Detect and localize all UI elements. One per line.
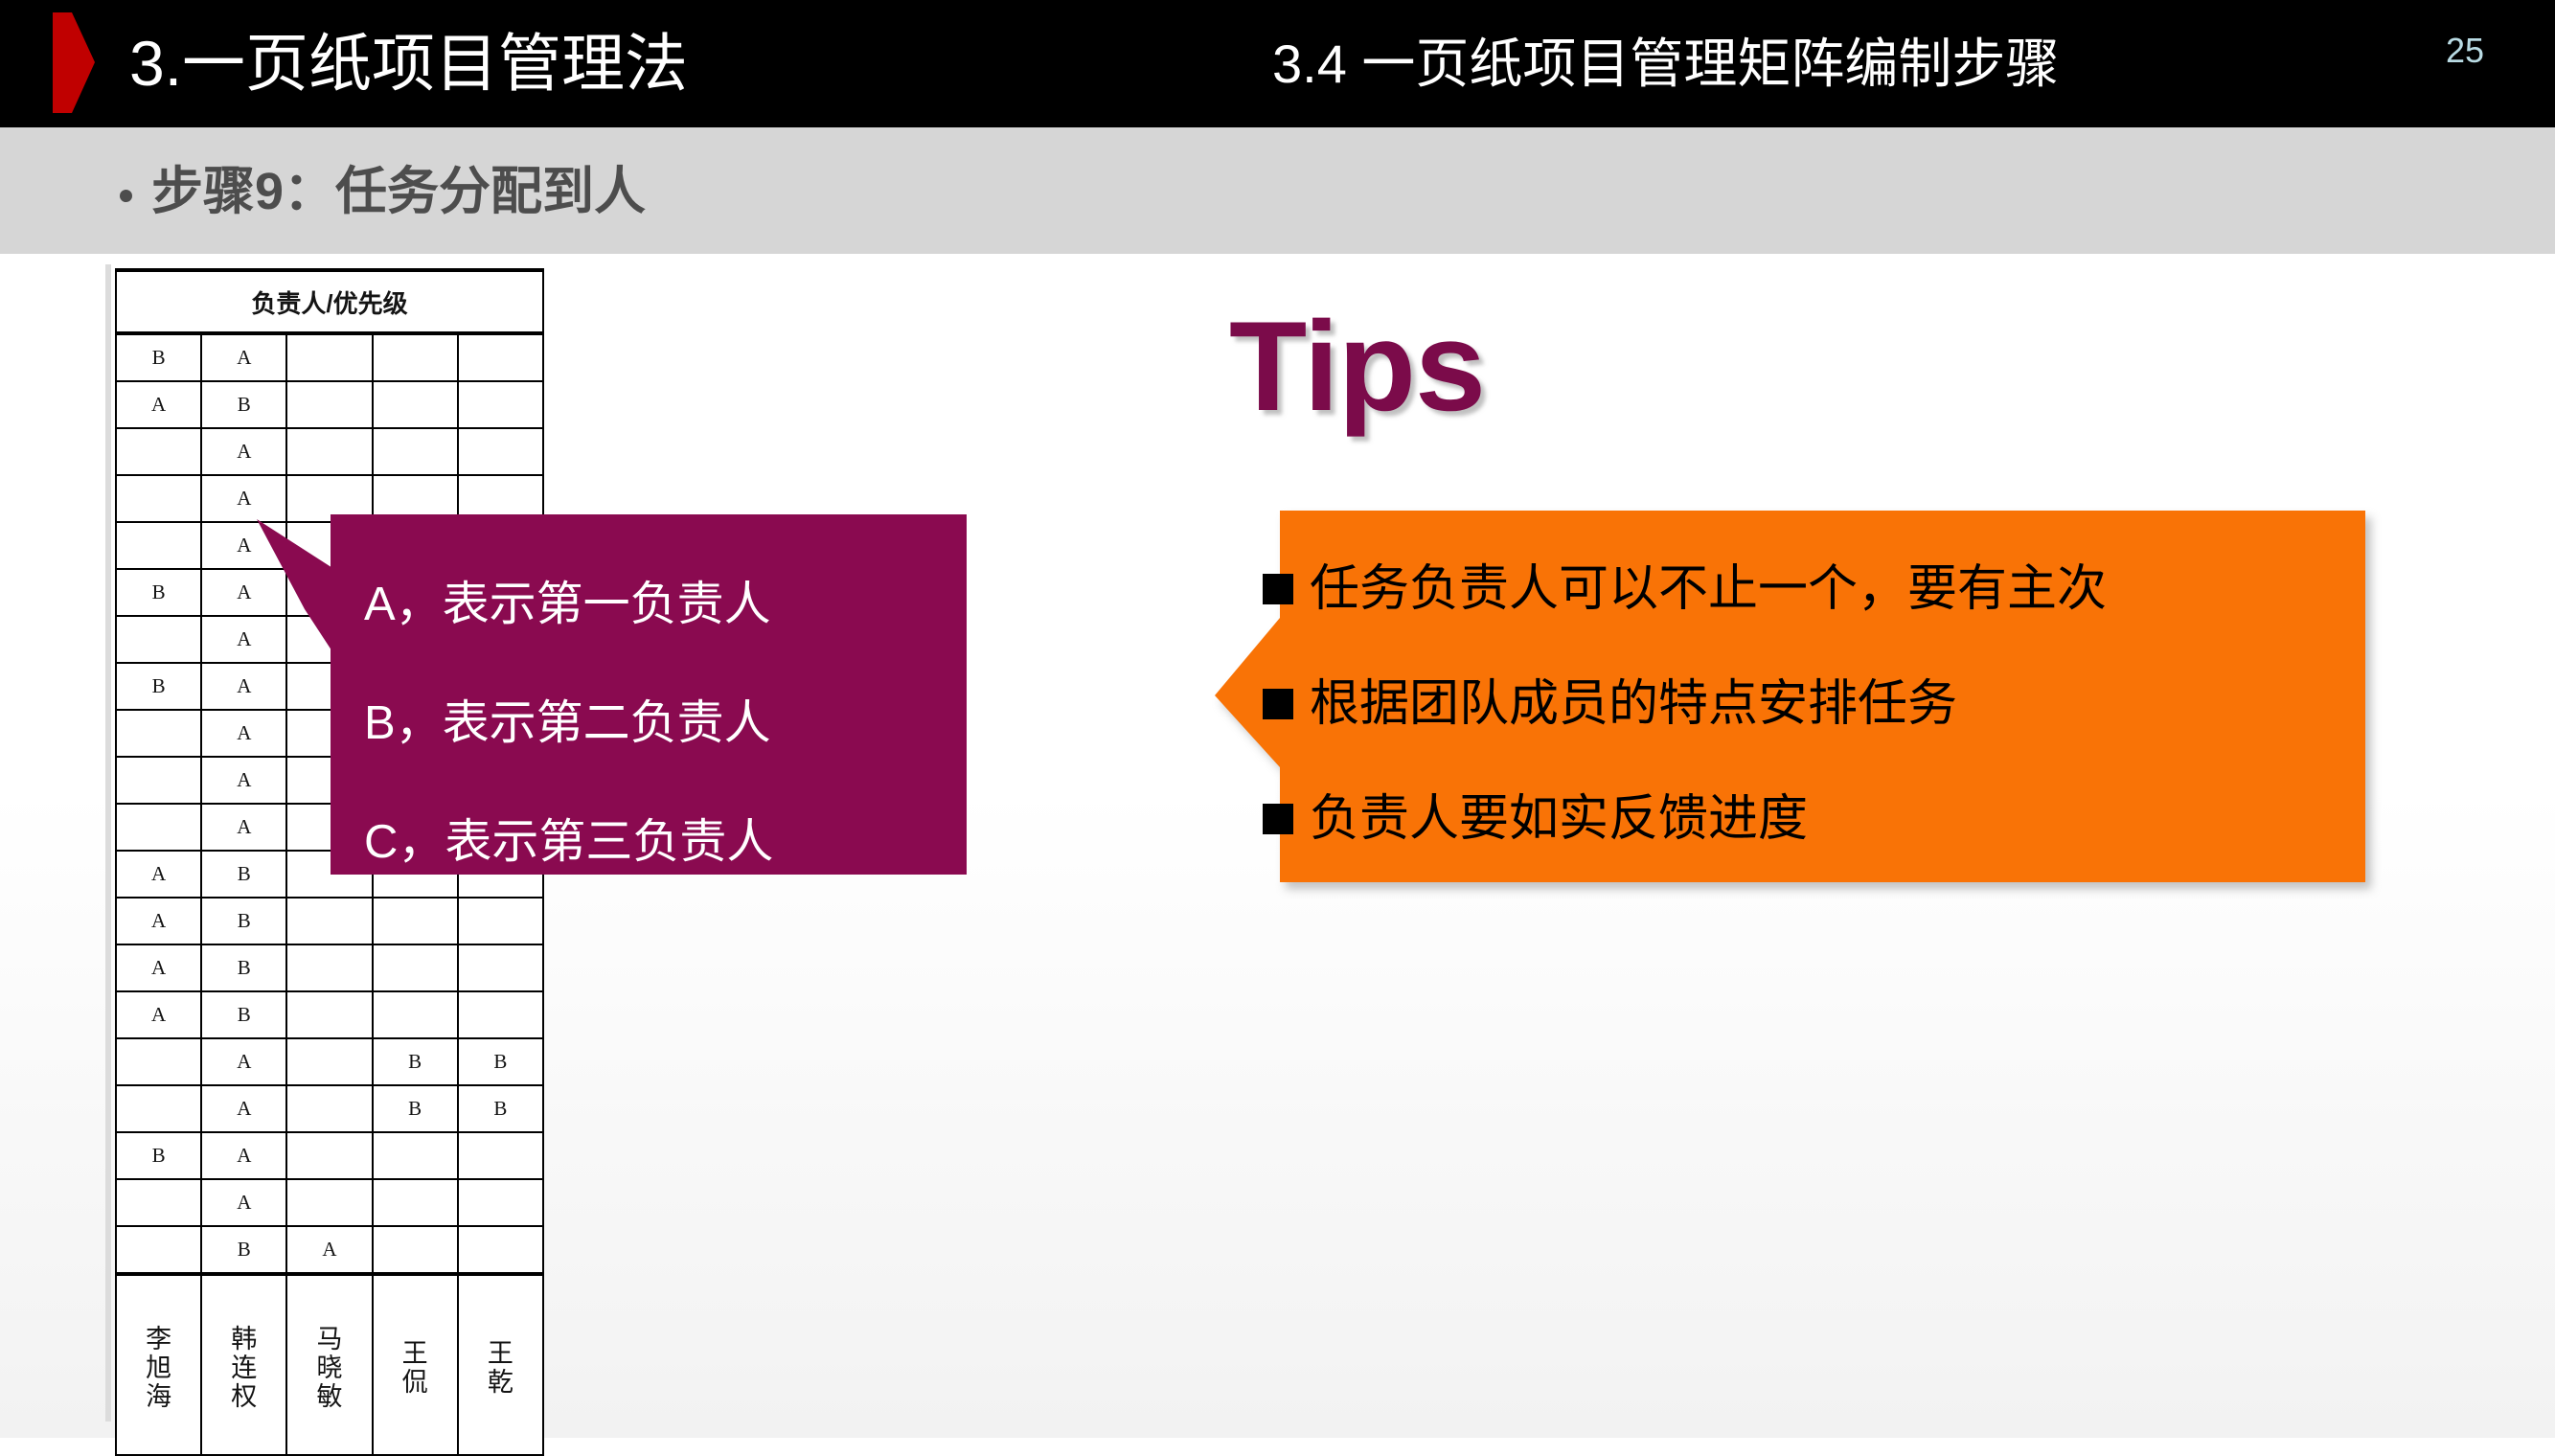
square-bullet-icon: [1263, 689, 1293, 719]
matrix-cell: [373, 991, 458, 1038]
table-row: AB: [116, 944, 543, 991]
matrix-cell: A: [201, 1132, 286, 1179]
matrix-cell: [286, 991, 372, 1038]
callout-line-list: A，表示第一负责人B，表示第二负责人C，表示第三负责人: [350, 545, 957, 901]
tip-bullet-row: 根据团队成员的特点安排任务: [1263, 647, 2345, 762]
table-row: AB: [116, 381, 543, 428]
header-bar: 3.一页纸项目管理法 3.4 一页纸项目管理矩阵编制步骤 25: [0, 0, 2555, 127]
tip-bullet-row: 任务负责人可以不止一个，要有主次: [1263, 532, 2345, 647]
matrix-cell: [373, 1179, 458, 1226]
matrix-cell: [458, 381, 543, 428]
matrix-cell: B: [373, 1085, 458, 1132]
table-row: BA: [116, 333, 543, 381]
matrix-cell: [116, 804, 201, 851]
matrix-cell: [373, 1226, 458, 1274]
tip-bullet-text: 任务负责人可以不止一个，要有主次: [1310, 532, 2107, 647]
matrix-cell: [458, 898, 543, 944]
matrix-left-edge: [105, 264, 111, 1422]
step-line: 步骤9：任务分配到人: [120, 148, 646, 235]
matrix-cell: [116, 1085, 201, 1132]
square-bullet-icon: [1263, 574, 1293, 604]
table-row: A: [116, 428, 543, 475]
square-bullet-icon: [1263, 804, 1293, 834]
matrix-cell: B: [116, 333, 201, 381]
table-row: ABB: [116, 1038, 543, 1085]
table-row: A: [116, 1179, 543, 1226]
matrix-cell: A: [116, 381, 201, 428]
matrix-cell: A: [116, 991, 201, 1038]
callout-line: A，表示第一负责人: [350, 545, 957, 664]
owner-name-cell: 韩连权: [201, 1274, 286, 1455]
callout-line: C，表示第三负责人: [350, 783, 957, 901]
matrix-cell: B: [116, 663, 201, 710]
matrix-cell: A: [286, 1226, 372, 1274]
matrix-cell: A: [116, 944, 201, 991]
matrix-cell: [458, 428, 543, 475]
matrix-cell: [458, 1226, 543, 1274]
table-row: AB: [116, 991, 543, 1038]
matrix-cell: B: [201, 1226, 286, 1274]
red-arrow-marker: [53, 12, 95, 113]
matrix-cell: [373, 333, 458, 381]
table-row: BA: [116, 1226, 543, 1274]
matrix-cell: [286, 1038, 372, 1085]
matrix-cell: [373, 381, 458, 428]
matrix-cell: [458, 333, 543, 381]
matrix-cell: A: [201, 757, 286, 804]
matrix-cell: [116, 475, 201, 522]
matrix-cell: [116, 1179, 201, 1226]
page-title: 3.一页纸项目管理法: [129, 13, 688, 114]
matrix-cell: B: [201, 991, 286, 1038]
matrix-cell: A: [201, 1085, 286, 1132]
header-subtitle: 3.4 一页纸项目管理矩阵编制步骤: [1272, 21, 2059, 107]
bullet-dot-icon: [120, 190, 132, 202]
table-row-names: 李旭海韩连权马晓敏王侃王乾: [116, 1274, 543, 1455]
matrix-cell: A: [201, 333, 286, 381]
matrix-cell: B: [458, 1038, 543, 1085]
matrix-cell: [116, 522, 201, 569]
page-number: 25: [2446, 31, 2484, 71]
tip-bullet-text: 负责人要如实反馈进度: [1310, 762, 1808, 876]
matrix-cell: B: [116, 569, 201, 616]
tip-bullet-row: 负责人要如实反馈进度: [1263, 762, 2345, 876]
matrix-cell: [116, 1226, 201, 1274]
tips-box: 任务负责人可以不止一个，要有主次根据团队成员的特点安排任务负责人要如实反馈进度: [1215, 511, 2365, 882]
matrix-cell: B: [201, 944, 286, 991]
matrix-cell: [373, 1132, 458, 1179]
priority-legend-callout: A，表示第一负责人B，表示第二负责人C，表示第三负责人: [331, 514, 967, 875]
table-row: BA: [116, 1132, 543, 1179]
matrix-cell: [116, 428, 201, 475]
matrix-header-cell: 负责人/优先级: [116, 270, 543, 333]
table-row: AB: [116, 898, 543, 944]
matrix-cell: A: [201, 475, 286, 522]
matrix-cell: A: [116, 898, 201, 944]
tips-bullet-list: 任务负责人可以不止一个，要有主次根据团队成员的特点安排任务负责人要如实反馈进度: [1263, 532, 2345, 876]
matrix-cell: A: [201, 428, 286, 475]
matrix-cell: [286, 1179, 372, 1226]
matrix-cell: [373, 944, 458, 991]
matrix-cell: B: [201, 898, 286, 944]
owner-name-cell: 马晓敏: [286, 1274, 372, 1455]
slide-canvas: 3.一页纸项目管理法 3.4 一页纸项目管理矩阵编制步骤 25 步骤9：任务分配…: [0, 0, 2555, 1438]
matrix-cell: [458, 991, 543, 1038]
owner-name-cell: 李旭海: [116, 1274, 201, 1455]
matrix-cell: [373, 898, 458, 944]
matrix-cell: [286, 1132, 372, 1179]
matrix-cell: [458, 1132, 543, 1179]
step-label: 步骤9：任务分配到人: [151, 148, 646, 235]
matrix-cell: [116, 616, 201, 663]
matrix-cell: [458, 1179, 543, 1226]
matrix-cell: A: [116, 851, 201, 898]
matrix-cell: [286, 944, 372, 991]
matrix-cell: B: [458, 1085, 543, 1132]
matrix-cell: [286, 333, 372, 381]
matrix-cell: A: [201, 710, 286, 757]
owner-name-cell: 王乾: [458, 1274, 543, 1455]
matrix-cell: [116, 710, 201, 757]
matrix-cell: [458, 944, 543, 991]
owner-name-cell: 王侃: [373, 1274, 458, 1455]
matrix-cell: [286, 1085, 372, 1132]
table-row: ABB: [116, 1085, 543, 1132]
matrix-cell: A: [201, 1038, 286, 1085]
matrix-cell: [286, 898, 372, 944]
matrix-cell: B: [373, 1038, 458, 1085]
matrix-cell: B: [116, 1132, 201, 1179]
tip-bullet-text: 根据团队成员的特点安排任务: [1310, 647, 1957, 762]
matrix-cell: B: [201, 381, 286, 428]
matrix-cell: A: [201, 1179, 286, 1226]
tips-heading: Tips: [1229, 284, 1485, 451]
matrix-cell: [116, 757, 201, 804]
matrix-cell: B: [201, 851, 286, 898]
matrix-cell: [373, 428, 458, 475]
matrix-cell: [286, 381, 372, 428]
callout-line: B，表示第二负责人: [350, 664, 957, 783]
matrix-cell: [286, 428, 372, 475]
matrix-cell: A: [201, 804, 286, 851]
matrix-cell: [116, 1038, 201, 1085]
